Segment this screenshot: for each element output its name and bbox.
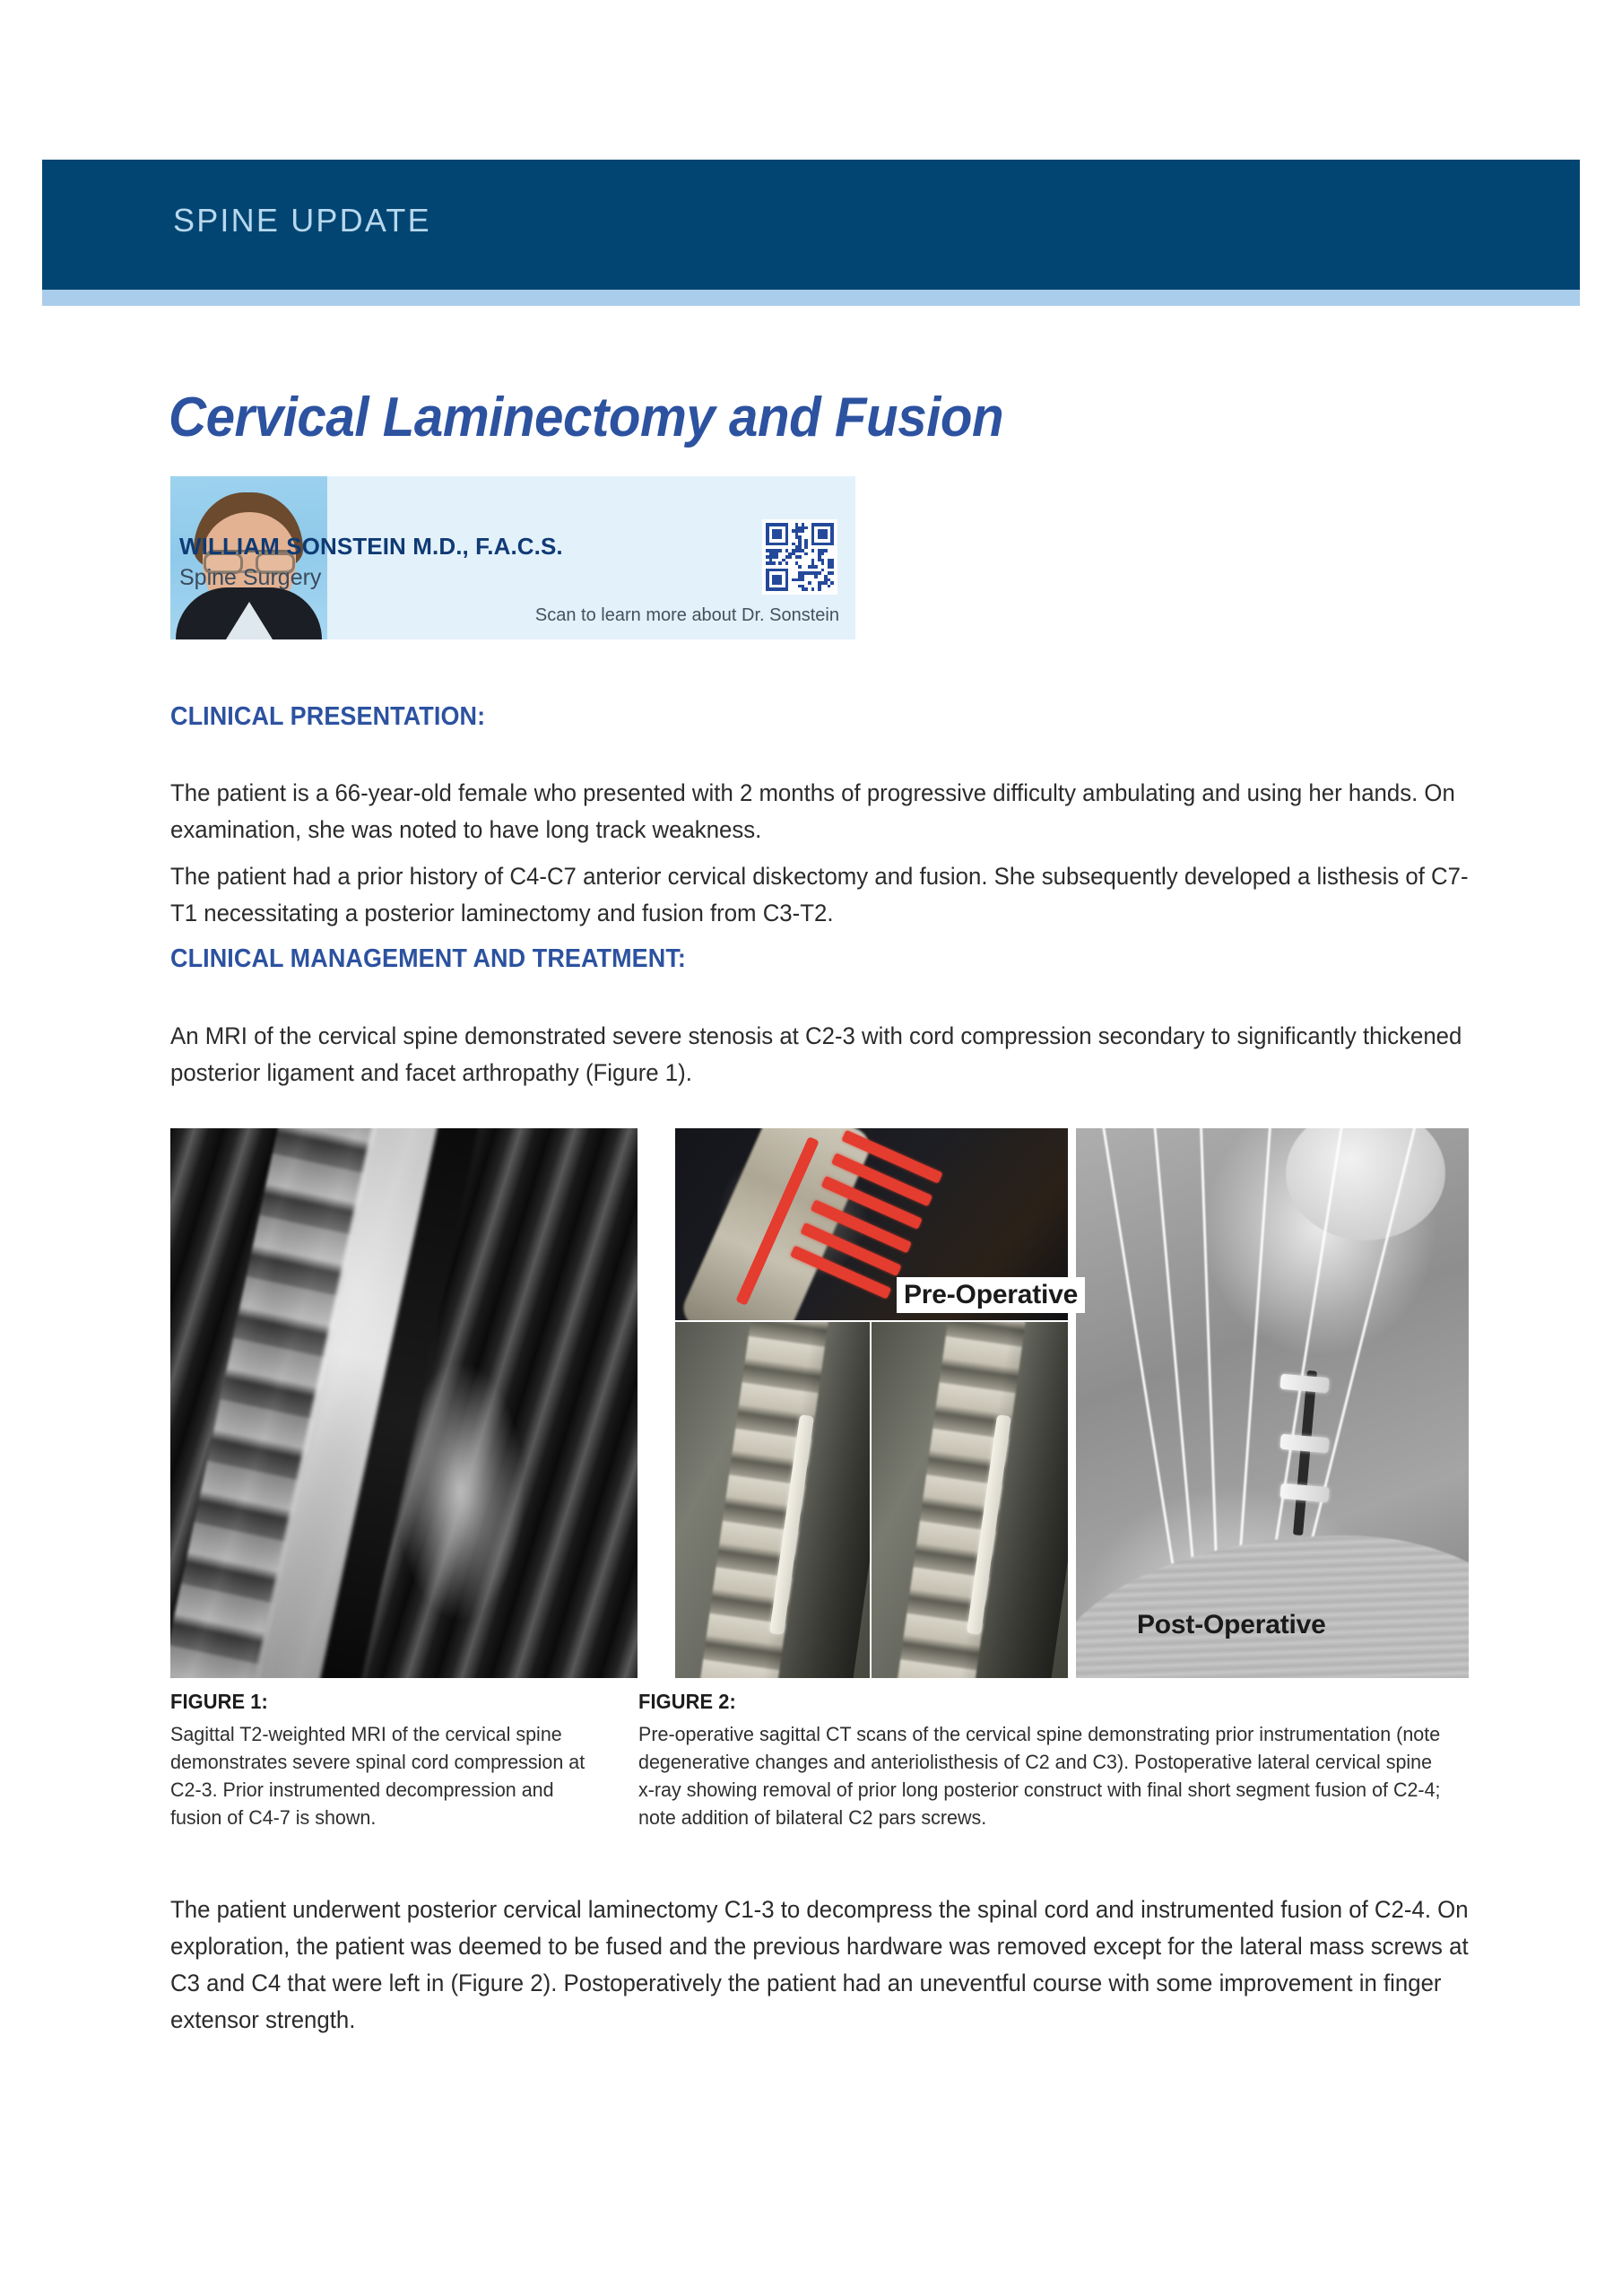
author-name: WILLIAM SONSTEIN M.D., F.A.C.S. bbox=[179, 533, 563, 561]
figure-1-caption-label: FIGURE 1: bbox=[170, 1690, 589, 1714]
qr-scan-caption: Scan to learn more about Dr. Sonstein bbox=[448, 605, 839, 626]
xray-screw-c3 bbox=[1279, 1434, 1329, 1454]
ct-sagittal-left-image bbox=[675, 1322, 870, 1678]
figure-2-caption-label: FIGURE 2: bbox=[638, 1690, 1439, 1714]
xray-screw-c2 bbox=[1279, 1374, 1329, 1394]
xray-shoulder bbox=[1076, 1535, 1469, 1678]
qr-code[interactable] bbox=[762, 519, 837, 595]
clinical-presentation-paragraph-1: The patient is a 66-year-old female who … bbox=[170, 775, 1493, 848]
figure-2-caption: FIGURE 2: Pre-operative sagittal CT scan… bbox=[638, 1690, 1481, 1831]
header-kicker: SPINE UPDATE bbox=[173, 202, 431, 239]
section-heading-clinical-presentation: CLINICAL PRESENTATION: bbox=[170, 702, 485, 732]
xray-posterior-rod bbox=[1293, 1370, 1317, 1535]
xray-screw-c4 bbox=[1279, 1483, 1329, 1503]
xray-occiput bbox=[1286, 1128, 1445, 1240]
clinical-management-paragraph-1: An MRI of the cervical spine demonstrate… bbox=[170, 1018, 1493, 1091]
clinical-presentation-paragraph-2: The patient had a prior history of C4-C7… bbox=[170, 858, 1493, 932]
image-label-post-operative: Post-Operative bbox=[1137, 1610, 1326, 1640]
author-specialty: Spine Surgery bbox=[179, 565, 321, 591]
section-heading-clinical-management: CLINICAL MANAGEMENT AND TREATMENT: bbox=[170, 944, 686, 974]
figure-image-block bbox=[170, 1128, 1469, 1678]
image-label-pre-operative: Pre-Operative bbox=[897, 1277, 1085, 1313]
figure-1-caption-text: Sagittal T2-weighted MRI of the cervical… bbox=[170, 1720, 592, 1831]
qr-code-matrix bbox=[766, 523, 834, 591]
figure-2-caption-text: Pre-operative sagittal CT scans of the c… bbox=[638, 1720, 1444, 1831]
figure-1-caption: FIGURE 1: Sagittal T2-weighted MRI of th… bbox=[170, 1690, 612, 1831]
ct-sagittal-right-image bbox=[872, 1322, 1068, 1678]
closing-paragraph: The patient underwent posterior cervical… bbox=[170, 1892, 1493, 2039]
page-title: Cervical Laminectomy and Fusion bbox=[169, 388, 1003, 447]
header-accent-strip bbox=[42, 290, 1580, 306]
sagittal-t2-mri-image bbox=[170, 1128, 638, 1678]
lateral-xray-postop-image bbox=[1076, 1128, 1469, 1678]
